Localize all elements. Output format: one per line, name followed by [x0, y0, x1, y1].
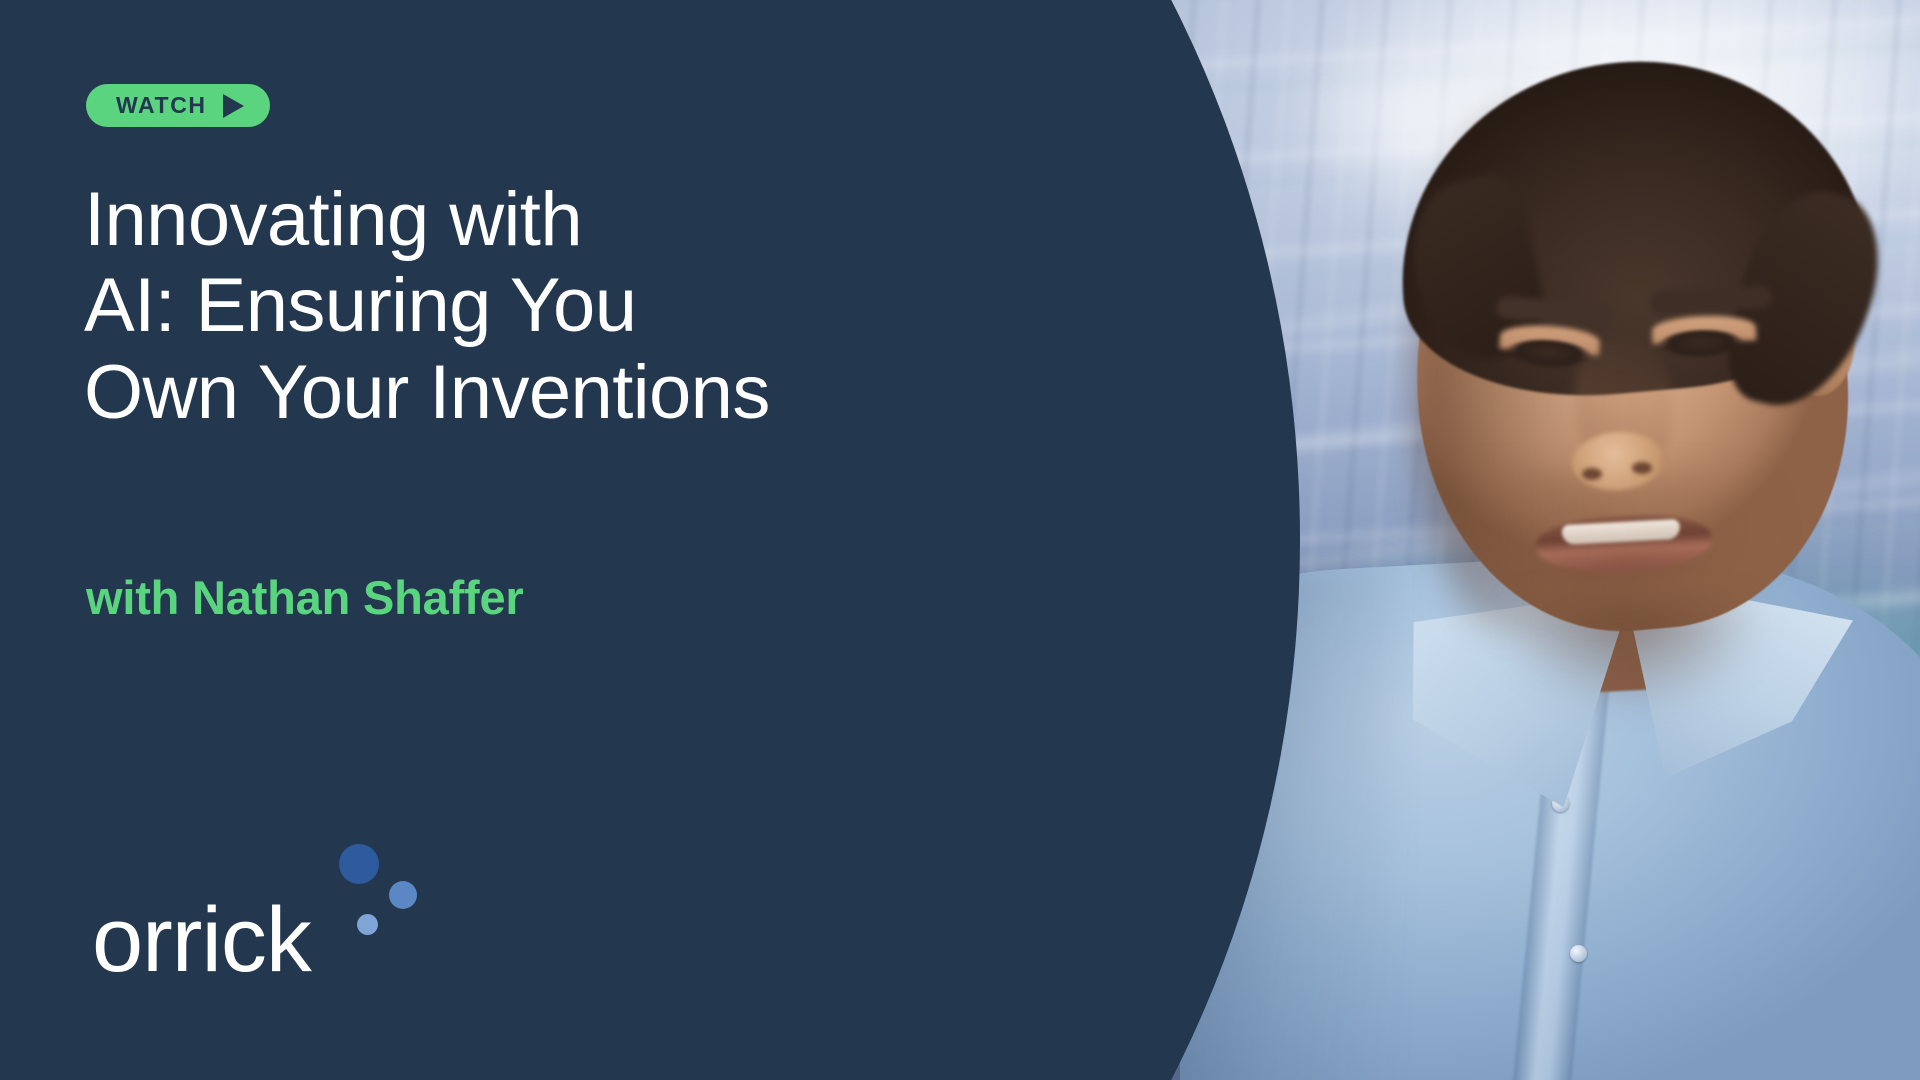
play-triangle-icon: [223, 94, 244, 118]
shirt-button: [1570, 945, 1587, 962]
nostril-right: [1632, 462, 1652, 474]
nostril-left: [1582, 468, 1602, 480]
page-title: Innovating with AI: Ensuring You Own You…: [84, 177, 1104, 436]
watch-badge[interactable]: WATCH: [86, 84, 270, 127]
orrick-wordmark: orrick: [92, 894, 311, 986]
headline-line-2: AI: Ensuring You: [84, 263, 1104, 349]
speaker-subtitle: with Nathan Shaffer: [86, 570, 524, 625]
logo-dot-large-icon: [339, 844, 379, 884]
logo-dot-medium-icon: [389, 881, 417, 909]
video-thumbnail-card: WATCH Innovating with AI: Ensuring You O…: [0, 0, 1920, 1080]
logo-dot-small-icon: [357, 914, 378, 935]
headline-line-3: Own Your Inventions: [84, 350, 1104, 436]
chin-shadow: [1502, 600, 1762, 710]
orrick-logo[interactable]: orrick: [92, 858, 392, 988]
content-layer: WATCH Innovating with AI: Ensuring You O…: [0, 0, 1230, 1080]
watch-badge-label: WATCH: [116, 94, 207, 117]
headline-line-1: Innovating with: [84, 177, 1104, 263]
